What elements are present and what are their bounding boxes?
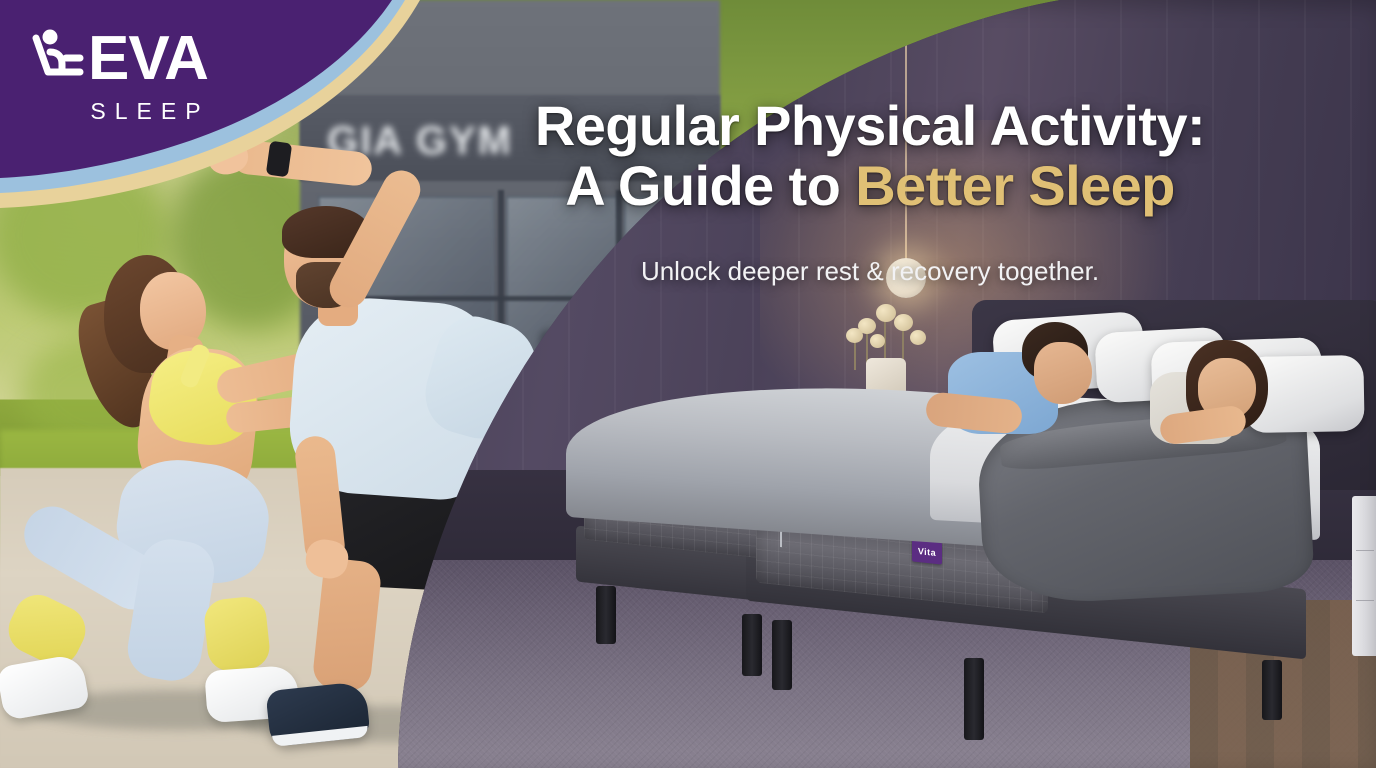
brand-name: EVA (88, 28, 208, 90)
bed-leg (1262, 660, 1282, 720)
headline: Regular Physical Activity: A Guide to Be… (430, 96, 1310, 216)
woman-calf-accent (202, 595, 271, 673)
headline-line-2-white: A Guide to (565, 154, 855, 217)
marketing-banner: GIA GYM (0, 0, 1376, 768)
bed-leg (596, 586, 616, 644)
brand-logo[interactable]: EVA SLEEP (28, 28, 268, 125)
sleeping-man-face (1034, 342, 1092, 404)
nightstand (1352, 496, 1376, 656)
headline-line-2-gold: Better Sleep (855, 154, 1175, 217)
man-sneaker (265, 681, 370, 747)
bed-leg (742, 614, 762, 676)
subtitle: Unlock deeper rest & recovery together. (430, 256, 1310, 287)
bed-leg (964, 658, 984, 740)
reclining-bed-icon (28, 28, 86, 90)
brand-tagline: SLEEP (28, 98, 236, 125)
headline-line-2: A Guide to Better Sleep (430, 156, 1310, 216)
bed-leg (772, 620, 792, 690)
headline-line-1: Regular Physical Activity: (430, 96, 1310, 156)
mattress-tag-right: Vita (912, 539, 942, 564)
